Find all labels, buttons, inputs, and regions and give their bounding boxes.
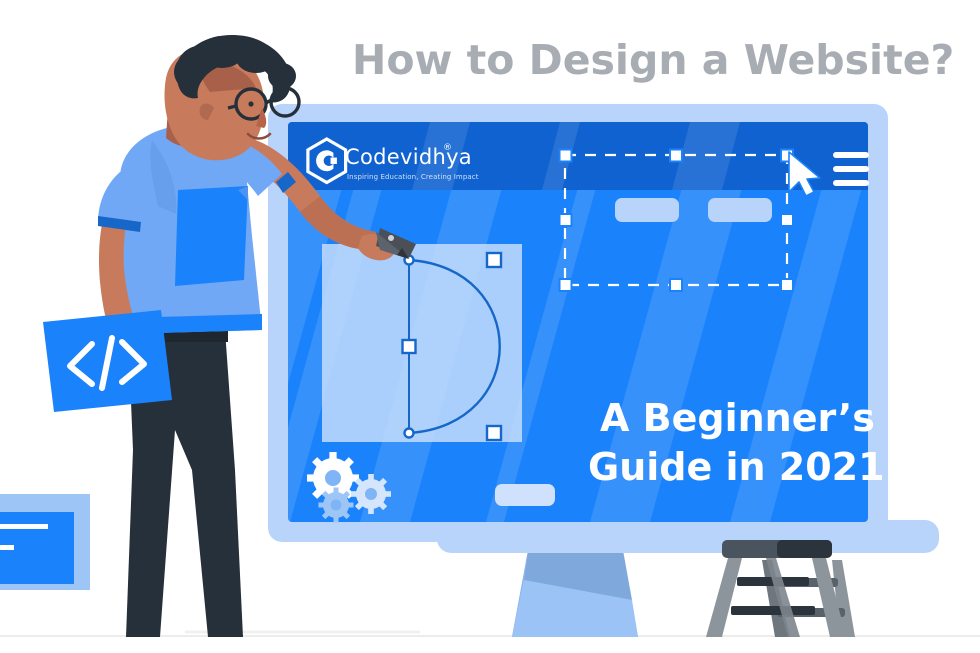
brand-tagline: Inspiring Education, Creating Impact	[347, 173, 479, 181]
selection-handle-sw[interactable]	[560, 279, 572, 291]
bezier-anchor-top-right[interactable]	[487, 253, 501, 267]
hero-headline-line-2: Guide in 2021	[588, 445, 885, 489]
code-card	[43, 310, 172, 412]
selection-handle-nw[interactable]	[560, 150, 572, 162]
placeholder-button-left[interactable]	[615, 198, 679, 222]
brand-registered-mark: ®	[443, 143, 452, 153]
mini-browser-window	[0, 494, 90, 590]
monitor-stand	[512, 545, 638, 637]
brand-name: Codevidhya	[345, 145, 472, 169]
placeholder-button-bottom[interactable]	[495, 484, 555, 506]
page-title: How to Design a Website?	[352, 36, 954, 84]
bezier-anchor-bottom-right[interactable]	[487, 426, 501, 440]
selection-handle-se[interactable]	[781, 279, 793, 291]
mini-window-line-1	[0, 524, 48, 529]
bezier-handle-bottom[interactable]	[405, 429, 414, 438]
hamburger-menu-icon[interactable]	[833, 152, 869, 186]
mini-window-line-2	[0, 545, 14, 550]
selection-handle-s[interactable]	[670, 279, 682, 291]
selection-handle-n[interactable]	[670, 150, 682, 162]
poster-canvas: How to Design a Website? Codevidhya ® In…	[0, 0, 980, 653]
hero-headline-line-1: A Beginner’s	[600, 396, 875, 440]
selection-handle-w[interactable]	[560, 214, 572, 226]
character-eye-left	[248, 101, 253, 106]
selection-handle-e[interactable]	[781, 214, 793, 226]
design-artboard	[322, 244, 522, 442]
bezier-anchor-mid[interactable]	[403, 340, 416, 353]
placeholder-button-right[interactable]	[708, 198, 772, 222]
illustration-layer	[0, 0, 980, 653]
